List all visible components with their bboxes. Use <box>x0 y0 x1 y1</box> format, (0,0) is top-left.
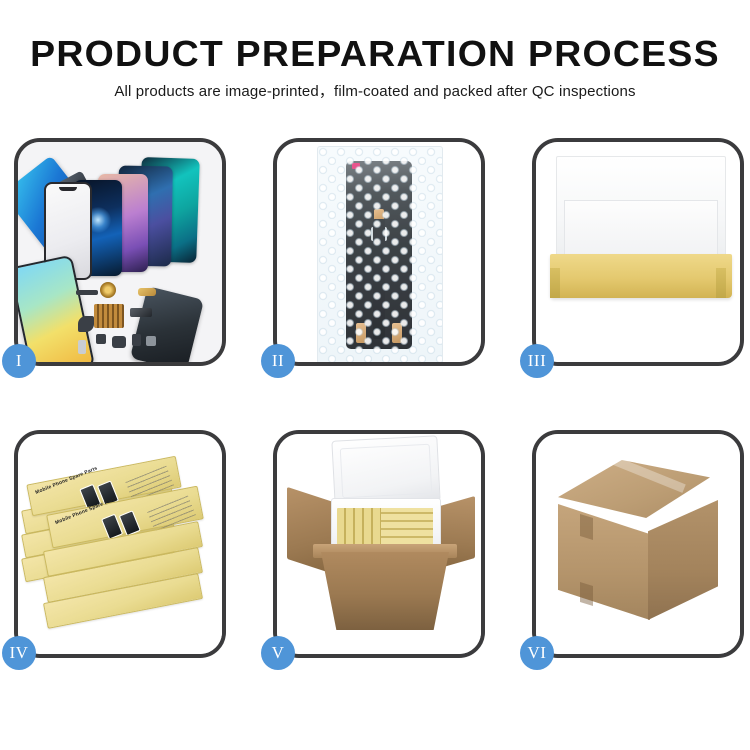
part-sim-tray <box>78 340 86 354</box>
step-badge-3: III <box>520 344 554 378</box>
part-vibrator <box>132 334 141 346</box>
carton-body <box>321 552 449 630</box>
product-preparation-page: PRODUCT PREPARATION PROCESS All products… <box>0 0 750 750</box>
step-5-image <box>277 434 481 654</box>
page-header: PRODUCT PREPARATION PROCESS All products… <box>0 0 750 101</box>
foam-cooler-lid <box>331 435 440 506</box>
part-chip <box>130 308 152 317</box>
box-side-right <box>716 268 726 298</box>
process-step-3: III <box>532 138 744 366</box>
carton-seal-upper <box>580 514 593 540</box>
step-3-image <box>536 142 740 362</box>
step-badge-6: VI <box>520 636 554 670</box>
step-badge-1: I <box>2 344 36 378</box>
step-6-image <box>536 434 740 654</box>
page-title: PRODUCT PREPARATION PROCESS <box>0 0 750 74</box>
part-mesh-grid <box>94 304 124 328</box>
process-step-5: V <box>273 430 485 658</box>
part-flex-cable <box>78 316 94 332</box>
part-bracket <box>146 336 156 346</box>
sealed-carton-side <box>648 500 718 620</box>
process-step-4: Mobile Phone Spare Parts Mobile Phone Sp… <box>14 430 226 658</box>
step-badge-5: V <box>261 636 295 670</box>
bubble-wrap-bag <box>317 146 443 362</box>
step-badge-2: II <box>261 344 295 378</box>
speaker-coil-icon <box>100 282 116 298</box>
bubble-texture <box>318 147 442 362</box>
box-contents <box>558 252 724 282</box>
step-1-image <box>18 142 222 362</box>
sealed-carton-front <box>558 504 650 620</box>
process-step-grid: I II <box>14 138 742 658</box>
page-subtitle: All products are image-printed，film-coat… <box>0 74 750 101</box>
process-step-2: II <box>273 138 485 366</box>
step-2-image <box>277 142 481 362</box>
step-4-image: Mobile Phone Spare Parts Mobile Phone Sp… <box>18 434 222 654</box>
carton-seal-lower <box>580 582 593 606</box>
part-earpiece <box>76 290 98 295</box>
spare-parts-cluster <box>76 282 196 362</box>
part-flex-gold <box>138 288 156 296</box>
box-side-left <box>550 268 560 298</box>
process-step-6: VI <box>532 430 744 658</box>
process-step-1: I <box>14 138 226 366</box>
part-button <box>96 334 106 344</box>
part-camera <box>112 336 126 348</box>
box-stack: Mobile Phone Spare Parts Mobile Phone Sp… <box>22 444 222 644</box>
step-badge-4: IV <box>2 636 36 670</box>
